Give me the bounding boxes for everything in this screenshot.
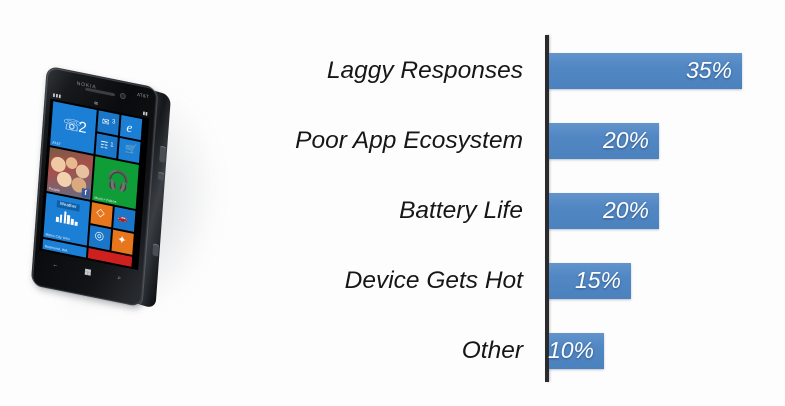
tile-label-people: People bbox=[49, 186, 60, 192]
contacts-icon: ☶ bbox=[100, 140, 109, 151]
chart-row: Laggy Responses 35% bbox=[270, 53, 785, 89]
tile-photos: ◇ bbox=[90, 202, 112, 227]
tile-store: 🛒 bbox=[118, 138, 140, 163]
bar-value-label: 35% bbox=[686, 53, 732, 89]
category-label: Other bbox=[462, 333, 523, 369]
bar-chart: Laggy Responses 35% Poor App Ecosystem 2… bbox=[270, 0, 785, 406]
tile-games: ✦ bbox=[112, 230, 134, 255]
battery-icon: ▮▮ bbox=[142, 110, 147, 117]
maps-car-icon: 🚗 bbox=[118, 214, 128, 224]
tile-label-phone: AT&T bbox=[52, 141, 61, 147]
tile-music-videos: 🎧 Music+Videos bbox=[92, 156, 139, 209]
tile-contacts: ☶ 1 bbox=[96, 133, 118, 158]
category-label: Laggy Responses bbox=[327, 53, 523, 89]
search-button-icon: ⌕ bbox=[117, 275, 121, 282]
category-label: Poor App Ecosystem bbox=[295, 123, 523, 159]
phone-front-body: NOKIA AT&T ▮▮▮ ✉ ▮▮ ☏ 2 AT&T bbox=[31, 66, 158, 308]
windows-home-button-icon bbox=[85, 269, 91, 276]
bar-laggy-responses: 35% bbox=[549, 53, 742, 89]
nokia-lumia-phone-image: NOKIA AT&T ▮▮▮ ✉ ▮▮ ☏ 2 AT&T bbox=[31, 66, 174, 313]
message-bubble-icon: ✉ bbox=[102, 117, 110, 127]
category-label: Battery Life bbox=[399, 193, 523, 229]
chart-row: Device Gets Hot 15% bbox=[270, 263, 785, 299]
bar-value-label: 15% bbox=[575, 263, 621, 299]
tile-label-location: Redmond, WA. bbox=[45, 244, 69, 253]
bar-poor-app-ecosystem: 20% bbox=[549, 123, 659, 159]
phone-missed-count: 2 bbox=[78, 120, 87, 137]
bar-value-label: 20% bbox=[603, 123, 649, 159]
tile-messaging: ✉ 3 bbox=[97, 110, 119, 135]
mail-status-icon: ✉ bbox=[94, 100, 98, 107]
tile-people: People f bbox=[47, 147, 94, 200]
chart-row: Poor App Ecosystem 20% bbox=[270, 123, 785, 159]
front-camera-icon bbox=[121, 94, 125, 99]
bar-other: 10% bbox=[549, 333, 604, 369]
tile-settings: ◎ bbox=[89, 225, 111, 250]
message-count-badge: 3 bbox=[112, 119, 116, 126]
volume-button bbox=[159, 145, 166, 163]
tile-internet-explorer: e bbox=[120, 115, 142, 140]
category-label: Device Gets Hot bbox=[345, 263, 523, 299]
internet-explorer-icon: e bbox=[126, 120, 133, 134]
games-star-icon: ✦ bbox=[117, 235, 127, 248]
bar-value-label: 20% bbox=[603, 193, 649, 229]
contacts-count-badge: 1 bbox=[110, 142, 114, 149]
headphones-icon: 🎧 bbox=[106, 170, 131, 194]
settings-gear-icon: ◎ bbox=[94, 230, 104, 243]
tile-maps: 🚗 bbox=[113, 207, 135, 232]
chart-row: Other 10% bbox=[270, 333, 785, 369]
product-photo-panel: NOKIA AT&T ▮▮▮ ✉ ▮▮ ☏ 2 AT&T bbox=[0, 0, 270, 406]
facebook-icon: f bbox=[81, 188, 90, 199]
camera-button bbox=[152, 243, 159, 257]
back-button-icon: ← bbox=[52, 262, 58, 269]
chart-row: Battery Life 20% bbox=[270, 193, 785, 229]
windows-logo-icon bbox=[85, 269, 91, 276]
photos-diamond-icon: ◇ bbox=[96, 207, 105, 220]
slide-canvas: NOKIA AT&T ▮▮▮ ✉ ▮▮ ☏ 2 AT&T bbox=[0, 0, 785, 406]
tile-phone: ☏ 2 AT&T bbox=[50, 101, 97, 154]
store-bag-icon: 🛒 bbox=[125, 144, 138, 156]
weather-bar-graphic bbox=[56, 209, 78, 226]
phone-screen: ☏ 2 AT&T ✉ 3 e ☶ 1 bbox=[39, 99, 149, 271]
bar-value-label: 10% bbox=[548, 333, 594, 369]
tile-weather: Weather Metro City Univ bbox=[43, 193, 90, 246]
power-button bbox=[158, 171, 164, 181]
carrier-brand-label: AT&T bbox=[137, 92, 149, 99]
bar-device-gets-hot: 15% bbox=[549, 263, 631, 299]
bar-battery-life: 20% bbox=[549, 193, 659, 229]
start-screen-tile-grid: ☏ 2 AT&T ✉ 3 e ☶ 1 bbox=[42, 101, 146, 267]
